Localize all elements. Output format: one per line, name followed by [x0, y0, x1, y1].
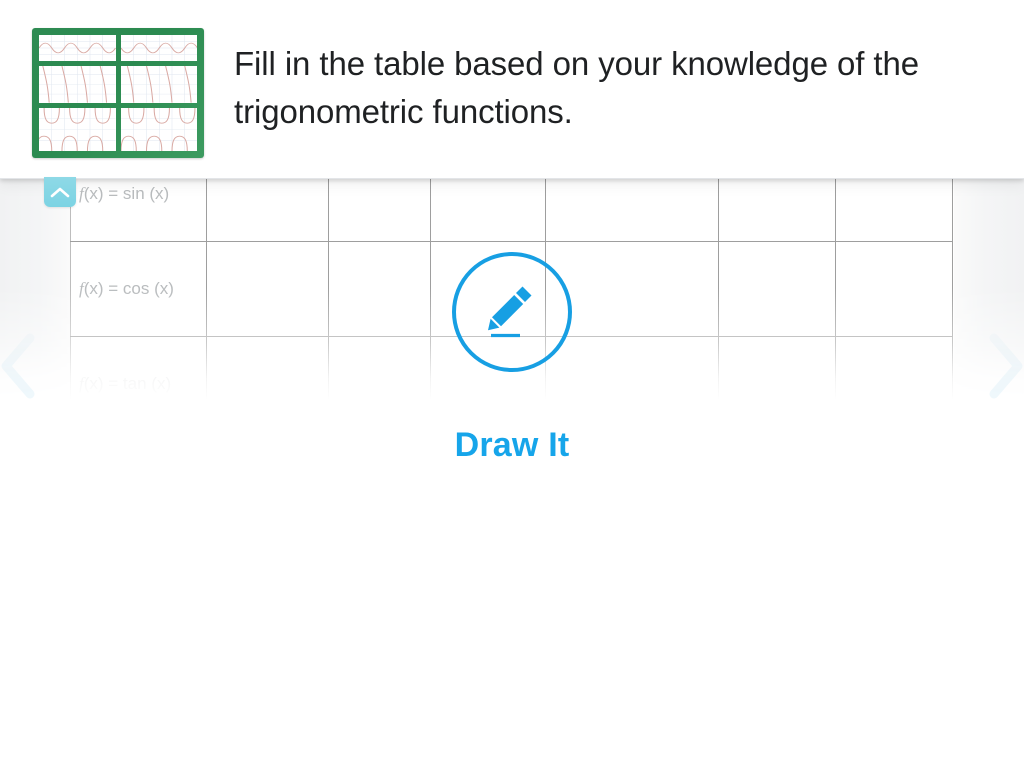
draw-it-circle: [452, 252, 572, 372]
table-cell[interactable]: [719, 178, 836, 242]
thumbnail-graph-sec-b: [121, 108, 198, 151]
lesson-activity-screen: f(x) = sin (x) f(x) = cos (x): [0, 0, 1024, 768]
table-cell[interactable]: [836, 178, 953, 242]
table-cell[interactable]: [431, 178, 546, 242]
row-label-sin-text: (x) = sin (x): [84, 184, 169, 203]
chevron-up-icon: [50, 186, 70, 198]
page-title: Fill in the table based on your knowledg…: [234, 40, 974, 136]
table-cell[interactable]: [207, 178, 329, 242]
table-row: f(x) = sin (x): [71, 178, 953, 242]
thumbnail-graph-tan-b: [121, 66, 198, 103]
thumbnail-graph-sin-a: [39, 35, 116, 61]
thumbnail-graph-sec-a: [39, 108, 116, 151]
collapse-header-button[interactable]: [44, 177, 76, 207]
table-cell[interactable]: [329, 178, 431, 242]
instruction-header-card: Fill in the table based on your knowledg…: [0, 0, 1024, 179]
trig-graphs-thumbnail[interactable]: [32, 28, 204, 158]
table-cell[interactable]: [546, 178, 719, 242]
draw-it-label: Draw It: [455, 426, 570, 465]
thumbnail-graph-sin-b: [121, 35, 198, 61]
thumbnail-graph-tan-a: [39, 66, 116, 103]
draw-it-button[interactable]: Draw It: [0, 252, 1024, 465]
row-label-sin: f(x) = sin (x): [71, 178, 207, 242]
pencil-icon: [475, 275, 549, 349]
